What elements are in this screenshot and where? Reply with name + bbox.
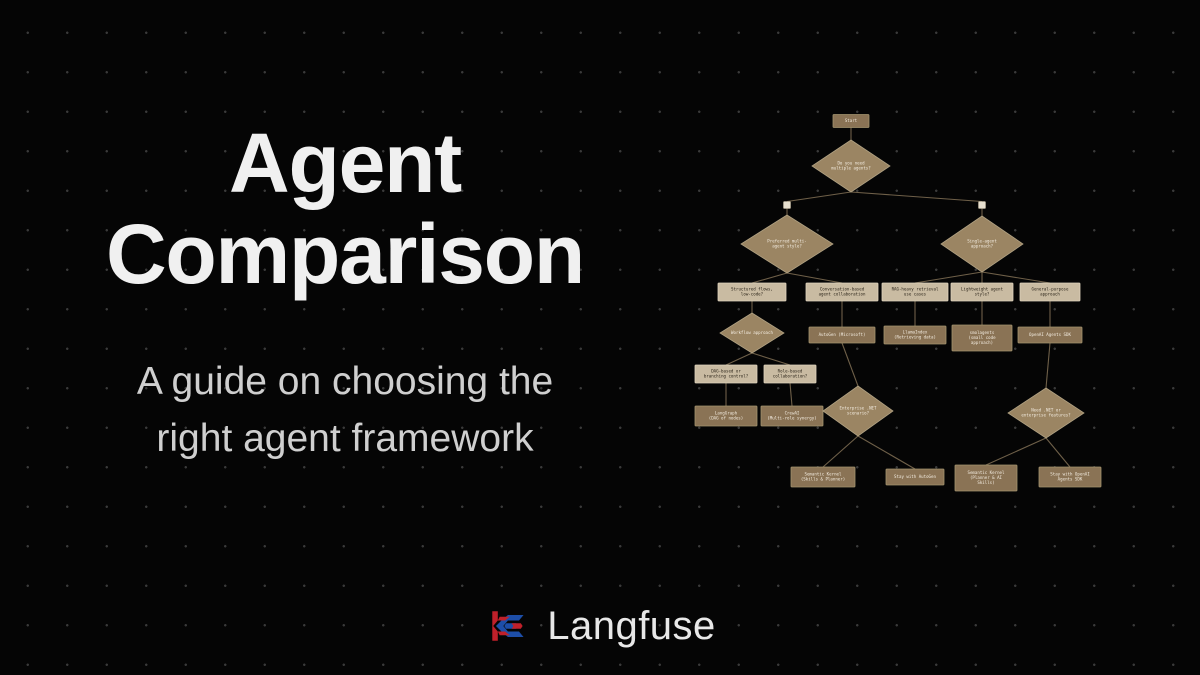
flowchart-svg: StartDo you needmultiple agents?Preferre… <box>670 95 1140 515</box>
flowchart-node-rag-heavy[interactable]: RAG-heavy retrievaluse cases <box>882 283 948 301</box>
flowchart-node-general[interactable]: General-purposeapproach <box>1020 283 1080 301</box>
node-label: smolagents(small codeapproach) <box>968 330 996 345</box>
node-label: Preferred multi-agent style? <box>767 238 806 248</box>
flowchart-edge <box>726 353 752 365</box>
flowchart-node-q-enterprise[interactable]: Need .NET orenterprise features? <box>1008 388 1084 438</box>
flowchart-node-sk-planner[interactable]: Semantic Kernel(Planner & AISkills) <box>955 465 1017 491</box>
slide-canvas: Agent Comparison A guide on choosing the… <box>0 0 1200 675</box>
node-label: Semantic Kernel(Skills & Planner) <box>801 471 845 481</box>
flowchart-edge <box>790 383 792 406</box>
node-label: OpenAI Agents SDK <box>1029 332 1071 337</box>
node-label: AutoGen (Microsoft) <box>819 332 866 337</box>
node-label: Workflow approach <box>731 330 773 335</box>
node-label: Stay with AutoGen <box>894 474 936 479</box>
flowchart-edge <box>752 273 787 283</box>
flowchart-node-stay-autogen[interactable]: Stay with AutoGen <box>886 469 944 485</box>
flowchart-edge <box>787 273 842 283</box>
page-subtitle: A guide on choosing the right agent fram… <box>50 354 640 467</box>
brand-lockup: Langfuse <box>0 603 1200 649</box>
flowchart-node-autogen[interactable]: AutoGen (Microsoft) <box>809 327 875 343</box>
flowchart-node-q-style[interactable]: Preferred multi-agent style? <box>741 215 833 273</box>
flowchart-node-conversation[interactable]: Conversation-basedagent collaboration <box>806 283 878 301</box>
flowchart-edge <box>851 192 982 202</box>
page-title: Agent Comparison <box>0 118 690 299</box>
flowchart-node-role-opt[interactable]: Role-basedcollaboration? <box>764 365 816 383</box>
hero-text-block: Agent Comparison A guide on choosing the… <box>0 118 690 468</box>
flowchart-node-q-single[interactable]: Single-agentapproach? <box>941 216 1023 272</box>
flowchart-node-structured[interactable]: Structured flows,low-code? <box>718 283 786 301</box>
flowchart-edge <box>1046 438 1070 467</box>
flowchart-edge <box>982 272 1050 283</box>
flowchart-edge <box>823 436 858 467</box>
flowchart-node-lightweight[interactable]: Lightweight agentstyle? <box>951 283 1013 301</box>
flowchart-node-q-workflow[interactable]: Workflow approach <box>720 313 784 353</box>
flowchart-node-smolagents[interactable]: smolagents(small codeapproach) <box>952 325 1012 351</box>
flowchart-edge <box>986 438 1046 465</box>
flowchart-node-langgraph[interactable]: LangGraph(DAG of nodes) <box>695 406 757 426</box>
flowchart-node-q-dotnet[interactable]: Enterprise .NETscenario? <box>823 386 893 436</box>
flowchart-node-layer: StartDo you needmultiple agents?Preferre… <box>695 115 1101 492</box>
flowchart-node-llamaindex[interactable]: LlamaIndex(Retrieving data) <box>884 326 946 344</box>
node-shape-box <box>979 202 986 209</box>
flowchart-edge <box>1046 343 1050 388</box>
flowchart-node-openai-sdk[interactable]: OpenAI Agents SDK <box>1018 327 1082 343</box>
flowchart-node-crewai[interactable]: CrewAI(Multi-role synergy) <box>761 406 823 426</box>
flowchart-edge <box>787 192 851 202</box>
node-label: Start <box>845 118 858 123</box>
brand-name: Langfuse <box>547 604 716 649</box>
flowchart-edge <box>752 353 790 365</box>
flowchart-node-dot-right[interactable] <box>979 202 986 209</box>
flowchart-node-q-multi[interactable]: Do you needmultiple agents? <box>812 140 890 192</box>
flowchart-node-start[interactable]: Start <box>833 115 869 128</box>
flowchart-node-stay-openai[interactable]: Stay with OpenAIAgents SDK <box>1039 467 1101 487</box>
flowchart-edge <box>842 343 858 386</box>
flowchart-node-dot-left[interactable] <box>784 202 791 209</box>
langfuse-logo-icon <box>484 603 530 649</box>
node-shape-box <box>784 202 791 209</box>
node-label: Single-agentapproach? <box>967 238 997 248</box>
flowchart-node-dag-opt[interactable]: DAG-based orbranching control? <box>695 365 757 383</box>
flowchart-edge <box>858 436 915 469</box>
flowchart-edge <box>915 272 982 283</box>
agent-framework-decision-flowchart: StartDo you needmultiple agents?Preferre… <box>670 95 1140 515</box>
node-label: Conversation-basedagent collaboration <box>819 286 866 296</box>
flowchart-node-sk-skills[interactable]: Semantic Kernel(Skills & Planner) <box>791 467 855 487</box>
